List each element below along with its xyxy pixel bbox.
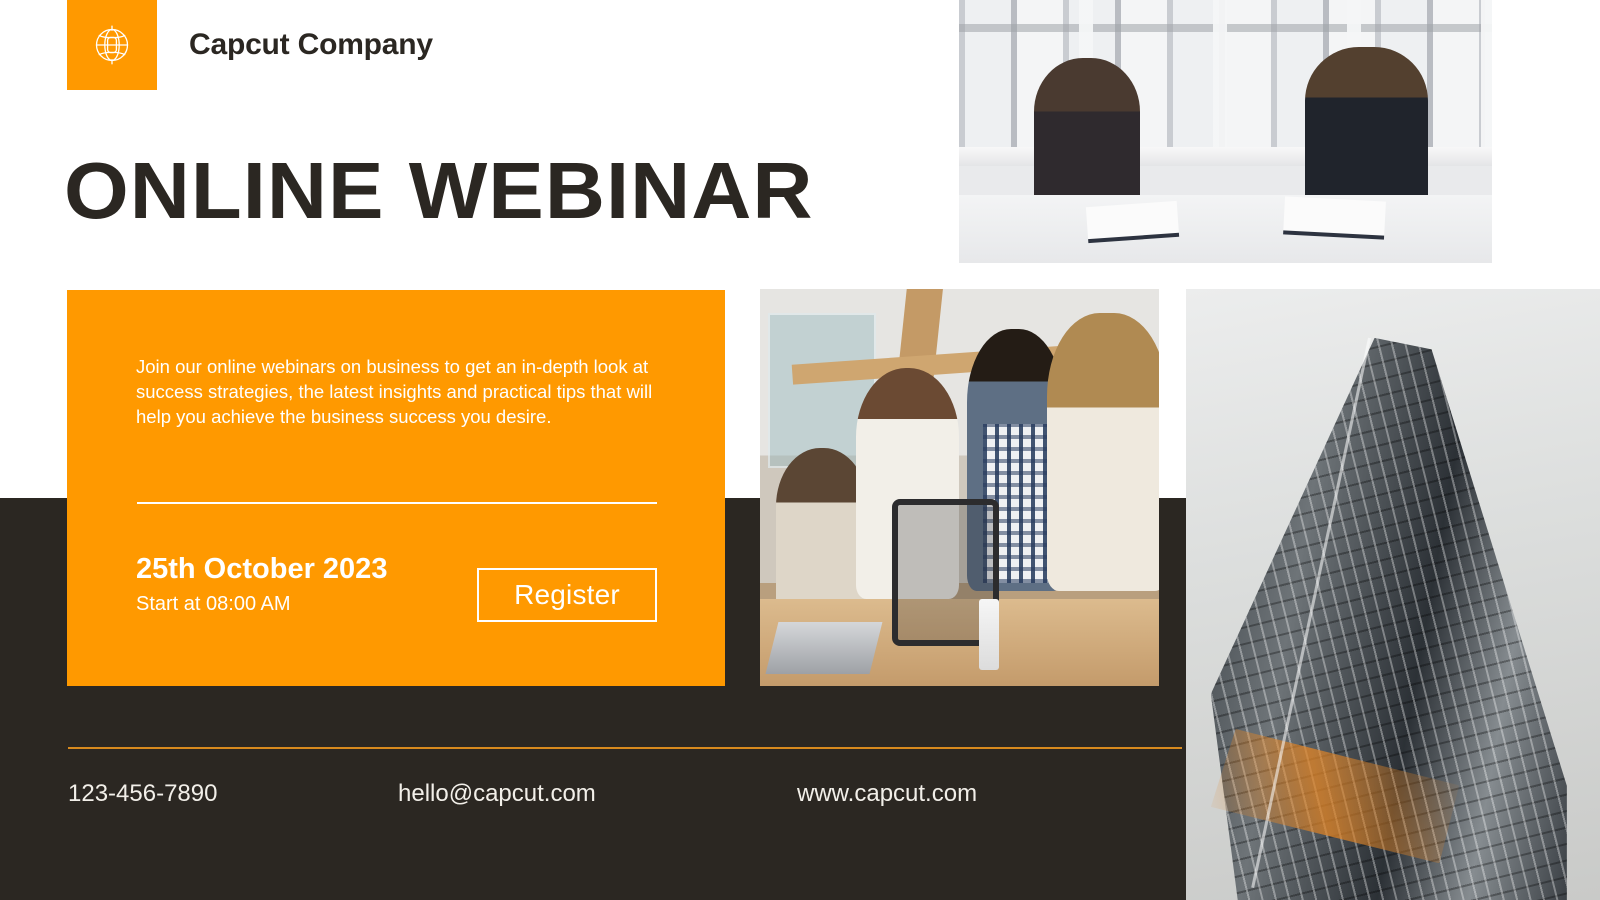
brand-name: Capcut Company	[189, 28, 433, 62]
water-bottle	[979, 599, 999, 670]
event-date: 25th October 2023	[136, 552, 387, 586]
event-time: Start at 08:00 AM	[136, 592, 387, 616]
notebook-left	[1086, 201, 1179, 243]
team-photo	[760, 289, 1159, 686]
woman-left	[1034, 58, 1141, 216]
info-description: Join our online webinars on business to …	[136, 354, 666, 429]
brand-header: Capcut Company	[67, 0, 433, 90]
info-divider	[137, 502, 657, 504]
page-title: ONLINE WEBINAR	[64, 148, 813, 234]
woman-right	[1305, 47, 1428, 215]
info-card: Join our online webinars on business to …	[67, 290, 725, 686]
skyscraper-photo	[1186, 289, 1600, 900]
footer-divider	[68, 747, 1182, 749]
laptop	[766, 622, 883, 674]
woman-blonde	[1047, 313, 1159, 591]
logo-tile	[67, 0, 157, 90]
webinar-poster: Capcut Company ONLINE WEBINAR Join our o…	[0, 0, 1600, 900]
register-button[interactable]: Register	[477, 568, 657, 622]
contact-email[interactable]: hello@capcut.com	[398, 778, 596, 810]
contact-website[interactable]: www.capcut.com	[797, 778, 977, 810]
event-details: 25th October 2023 Start at 08:00 AM	[136, 552, 387, 616]
meeting-table	[959, 195, 1492, 263]
globe-icon	[89, 22, 135, 68]
footer-contacts: 123-456-7890 hello@capcut.com www.capcut…	[68, 778, 1182, 812]
meeting-photo	[959, 0, 1492, 263]
contact-phone[interactable]: 123-456-7890	[68, 778, 217, 810]
notebook-right	[1283, 196, 1386, 239]
